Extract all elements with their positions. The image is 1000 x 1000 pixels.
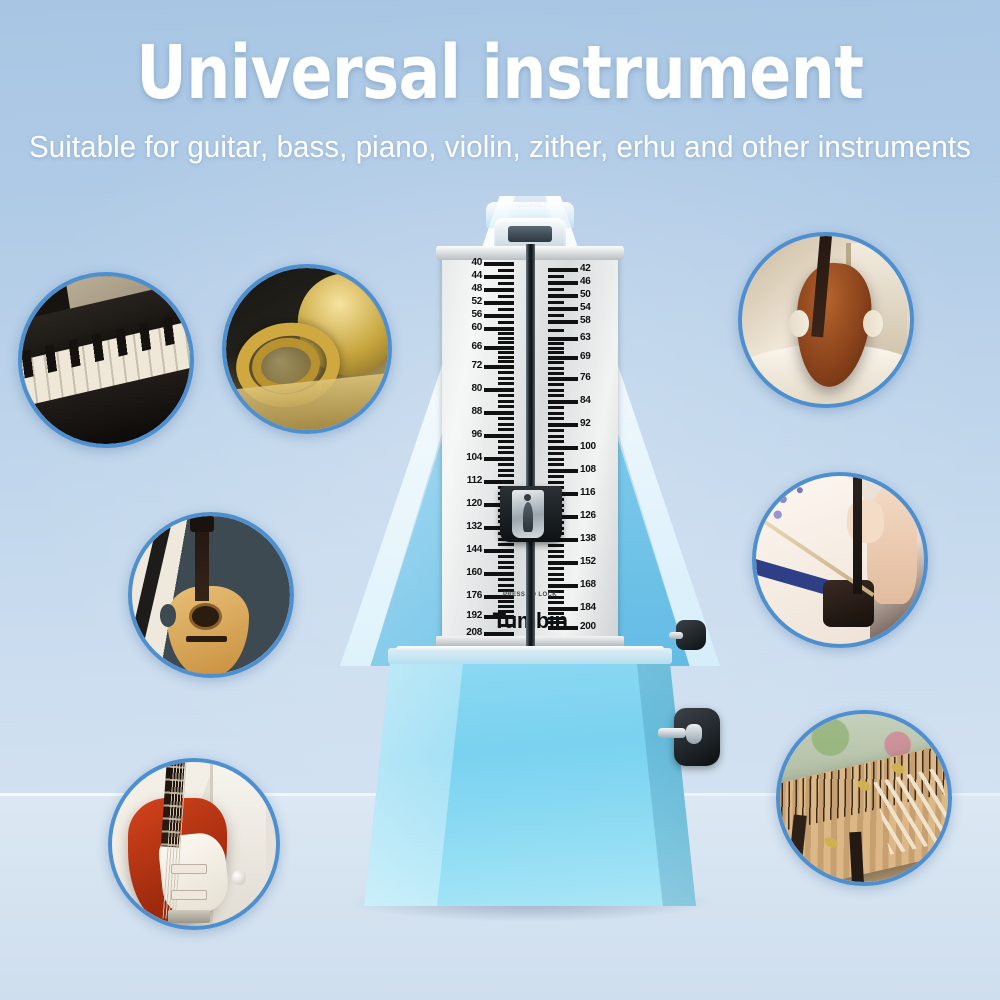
header-block: Universal instrument Suitable for guitar…	[0, 0, 1000, 165]
advertisement-stage: Universal instrument Suitable for guitar…	[0, 0, 1000, 1000]
scale-minor-tick	[498, 440, 514, 443]
tempo-scale-right: 4246505458636976849210010811612613815216…	[546, 258, 618, 630]
base-chrome-trim	[396, 646, 664, 652]
scale-tick	[484, 457, 514, 461]
scale-minor-tick	[548, 275, 564, 278]
scale-tick-label: 84	[580, 395, 591, 406]
scale-tick-label: 100	[580, 441, 596, 452]
scale-minor-tick	[498, 463, 514, 466]
winding-key-hole	[686, 724, 702, 744]
scale-minor-tick	[548, 429, 564, 432]
scale-tick	[484, 288, 514, 292]
guzheng-photo	[780, 714, 948, 882]
scale-minor-tick	[548, 361, 564, 364]
scale-tick	[548, 584, 578, 588]
violin-photo	[742, 236, 910, 404]
scale-tick-label: 120	[466, 498, 482, 509]
scale-minor-tick	[498, 351, 514, 354]
scale-tick-label: 63	[580, 332, 591, 343]
scale-tick	[548, 337, 578, 341]
scale-tick	[484, 480, 514, 484]
thumbnail-piano	[18, 272, 194, 448]
thumbnail-erhu	[752, 472, 928, 648]
scale-minor-tick	[498, 423, 514, 426]
scale-minor-tick	[548, 550, 564, 553]
scale-minor-tick	[548, 452, 564, 455]
scale-tick	[548, 469, 578, 473]
scale-minor-tick	[498, 356, 514, 359]
page-subtitle: Suitable for guitar, bass, piano, violin…	[25, 130, 975, 165]
scale-tick-label: 42	[580, 263, 591, 274]
scale-minor-tick	[548, 567, 564, 570]
thumbnail-acoustic-guitar	[128, 512, 294, 678]
scale-tick	[484, 346, 514, 350]
scale-tick-label: 69	[580, 351, 591, 362]
scale-tick	[484, 314, 514, 318]
scale-tick-label: 104	[466, 452, 482, 463]
scale-minor-tick	[498, 382, 514, 385]
scale-tick	[484, 275, 514, 279]
scale-tick	[484, 572, 514, 576]
acoustic-guitar-photo	[132, 516, 290, 674]
scale-minor-tick	[548, 435, 564, 438]
scale-minor-tick	[548, 475, 564, 478]
scale-minor-tick	[548, 544, 564, 547]
thumbnail-violin	[738, 232, 914, 408]
scale-minor-tick	[548, 463, 564, 466]
scale-tick-label: 116	[580, 487, 595, 498]
scale-tick-label: 108	[580, 464, 596, 475]
scale-minor-tick	[548, 417, 564, 420]
scale-tick	[548, 294, 578, 298]
scale-minor-tick	[548, 573, 564, 576]
scale-minor-tick	[498, 428, 514, 431]
scale-minor-tick	[498, 566, 514, 569]
scale-tick	[548, 307, 578, 311]
weight-pivot-dot	[524, 494, 531, 501]
scale-minor-tick	[498, 600, 514, 603]
scale-minor-tick	[548, 367, 564, 370]
scale-minor-tick	[548, 329, 564, 332]
scale-tick	[484, 262, 514, 266]
scale-tick-label: 132	[466, 521, 482, 532]
scale-tick-label: 48	[471, 283, 482, 294]
scale-minor-tick	[498, 469, 514, 472]
scale-minor-tick	[548, 555, 564, 558]
scale-minor-tick	[548, 601, 564, 604]
scale-tick	[484, 327, 514, 331]
scale-minor-tick	[548, 394, 564, 397]
scale-minor-tick	[498, 295, 514, 298]
bass-guitar-photo	[112, 762, 276, 926]
scale-tick-label: 66	[471, 341, 482, 352]
scale-tick-label: 72	[471, 360, 482, 371]
scale-tick	[484, 301, 514, 305]
scale-tick-label: 58	[580, 315, 591, 326]
scale-minor-tick	[548, 301, 564, 304]
scale-tick	[484, 434, 514, 438]
scale-minor-tick	[548, 412, 564, 415]
scale-minor-tick	[498, 377, 514, 380]
scale-tick-label: 112	[467, 475, 482, 486]
scale-minor-tick	[548, 314, 564, 317]
scale-tick-label: 54	[580, 302, 591, 313]
scale-tick-label: 46	[580, 276, 591, 287]
scale-minor-tick	[548, 406, 564, 409]
scale-tick	[548, 356, 578, 360]
scale-tick	[548, 561, 578, 565]
scale-tick	[548, 281, 578, 285]
scale-minor-tick	[498, 321, 514, 324]
scale-minor-tick	[498, 394, 514, 397]
winding-key-shaft	[658, 728, 686, 738]
scale-minor-tick	[548, 440, 564, 443]
scale-tick-label: 126	[580, 510, 596, 521]
scale-tick-label: 168	[580, 579, 596, 590]
scale-minor-tick	[498, 578, 514, 581]
scale-tick	[484, 411, 514, 415]
scale-tick-label: 88	[471, 406, 482, 417]
scale-tick-label: 52	[471, 296, 482, 307]
scale-tick-label: 160	[466, 567, 482, 578]
scale-tick-label: 76	[580, 372, 591, 383]
weight-cutout	[523, 502, 533, 532]
scale-minor-tick	[498, 446, 514, 449]
scale-minor-tick	[548, 347, 564, 350]
scale-minor-tick	[498, 543, 514, 546]
scale-minor-tick	[498, 451, 514, 454]
scale-minor-tick	[498, 308, 514, 311]
scale-minor-tick	[498, 555, 514, 558]
scale-minor-tick	[498, 474, 514, 477]
start-stop-knob[interactable]	[676, 620, 706, 650]
scale-minor-tick	[498, 360, 514, 363]
scale-tick	[548, 320, 578, 324]
scale-minor-tick	[548, 389, 564, 392]
scale-tick	[548, 423, 578, 427]
scale-tick-label: 96	[471, 429, 482, 440]
scale-minor-tick	[498, 561, 514, 564]
french-horn-photo	[226, 268, 388, 430]
scale-tick	[548, 400, 578, 404]
thumbnail-french-horn	[222, 264, 392, 434]
scale-tick-label: 60	[471, 322, 482, 333]
scale-tick-label: 152	[580, 556, 596, 567]
thumbnail-guzheng-zither	[776, 710, 952, 886]
scale-minor-tick	[498, 341, 514, 344]
scale-minor-tick	[498, 417, 514, 420]
scale-minor-tick	[498, 282, 514, 285]
erhu-photo	[756, 476, 924, 644]
scale-tick-label: 40	[471, 257, 482, 268]
scale-minor-tick	[548, 481, 564, 484]
scale-minor-tick	[548, 578, 564, 581]
scale-tick	[484, 549, 514, 553]
scale-tick-label: 56	[471, 309, 482, 320]
scale-minor-tick	[498, 405, 514, 408]
scale-minor-tick	[548, 383, 564, 386]
scale-tick	[548, 446, 578, 450]
scale-minor-tick	[548, 458, 564, 461]
scale-tick-label: 80	[471, 383, 482, 394]
scale-tick-label: 92	[580, 418, 591, 429]
scale-minor-tick	[498, 400, 514, 403]
scale-minor-tick	[548, 342, 564, 345]
scale-tick	[484, 365, 514, 369]
scale-minor-tick	[498, 584, 514, 587]
scale-tick-label: 144	[466, 544, 482, 555]
scale-minor-tick	[498, 337, 514, 340]
scale-minor-tick	[548, 372, 564, 375]
scale-tick-label: 44	[471, 270, 482, 281]
head-cap-slot	[508, 226, 552, 242]
scale-minor-tick	[498, 371, 514, 374]
scale-minor-tick	[498, 269, 514, 272]
scale-tick	[548, 377, 578, 381]
tempo-scale-left: 4044485256606672808896104112120132144160…	[444, 258, 516, 630]
scale-tick	[548, 268, 578, 272]
metronome-product: 4044485256606672808896104112120132144160…	[340, 196, 720, 916]
pendulum-rod[interactable]	[526, 244, 535, 648]
scale-tick-label: 50	[580, 289, 591, 300]
page-title: Universal instrument	[35, 0, 965, 110]
piano-photo	[22, 276, 190, 444]
scale-tick	[484, 388, 514, 392]
scale-tick-label: 138	[580, 533, 596, 544]
scale-minor-tick	[498, 332, 514, 335]
scale-minor-tick	[548, 351, 564, 354]
scale-minor-tick	[548, 288, 564, 291]
thumbnail-bass-guitar	[108, 758, 280, 930]
